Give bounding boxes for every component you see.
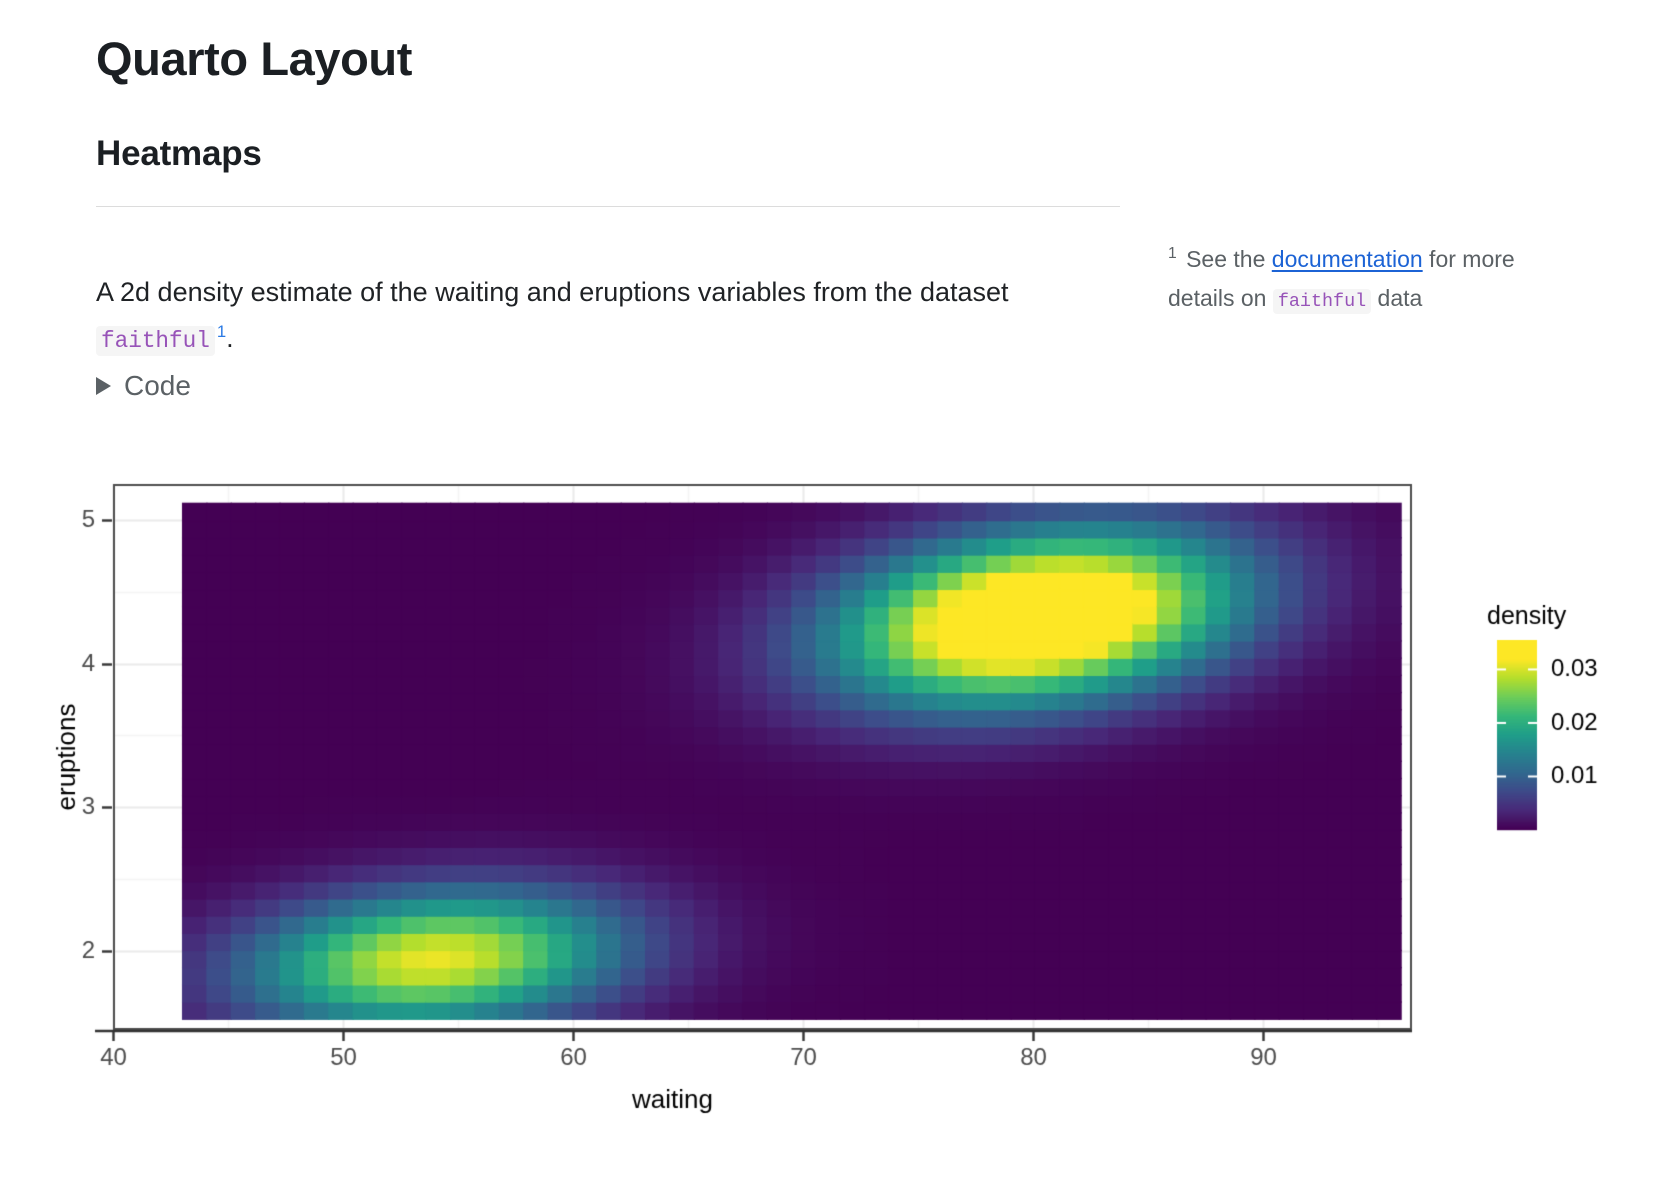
margin-note-lead: See the bbox=[1180, 246, 1272, 272]
body-text-lead: A 2d density estimate of the waiting and… bbox=[96, 277, 1009, 307]
margin-note-tail: data bbox=[1371, 285, 1422, 311]
triangle-right-icon bbox=[96, 377, 111, 395]
body-text-tail: . bbox=[226, 323, 234, 353]
documentation-link[interactable]: documentation bbox=[1272, 246, 1423, 272]
margin-note-inline-code: faithful bbox=[1273, 289, 1371, 314]
section-divider bbox=[96, 206, 1120, 207]
heatmap-figure bbox=[0, 440, 1660, 1120]
document-page: Quarto Layout Heatmaps A 2d density esti… bbox=[0, 0, 1660, 1200]
density-heatmap-plot bbox=[0, 440, 1660, 1120]
margin-note: 1 See the documentation for more details… bbox=[1168, 240, 1528, 318]
footnote-reference[interactable]: 1 bbox=[217, 322, 226, 341]
body-paragraph: A 2d density estimate of the waiting and… bbox=[96, 269, 1096, 362]
margin-note-marker: 1 bbox=[1168, 245, 1177, 262]
code-disclosure-label: Code bbox=[124, 372, 191, 400]
section-heading: Heatmaps bbox=[96, 133, 262, 175]
inline-code-faithful: faithful bbox=[96, 326, 215, 356]
code-disclosure-toggle[interactable]: Code bbox=[96, 372, 191, 400]
page-title: Quarto Layout bbox=[96, 32, 412, 87]
